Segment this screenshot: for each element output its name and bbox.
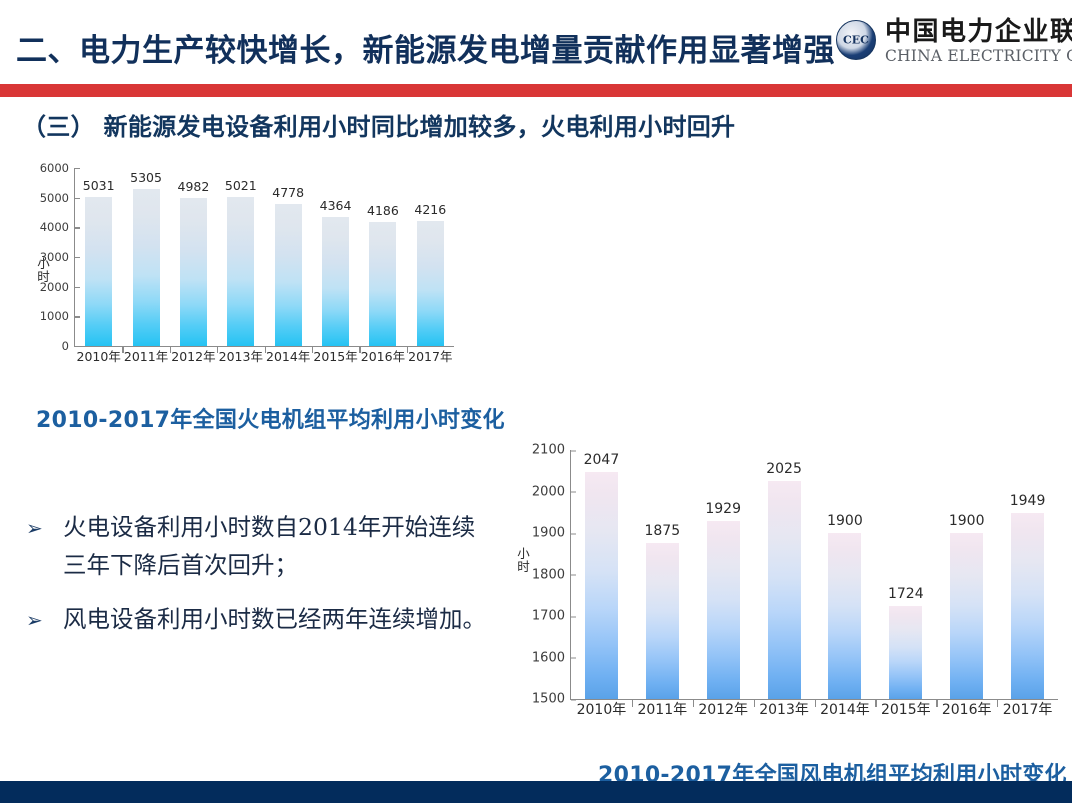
x-axis-tick-mark [122,346,123,353]
page-title: 二、电力生产较快增长，新能源发电增量贡献作用显著增强 [16,20,836,74]
x-axis-tick-label: 2010年 [75,346,122,365]
y-axis-tick-label: 1600 [532,650,571,665]
bar-slot: 5031 [75,168,122,346]
x-axis-tick-label: 2016年 [936,699,997,719]
chart-thermal-plot-area: 6000500040003000200010000 50315305498250… [74,168,454,347]
bar: 2025 [768,481,801,699]
x-axis-tick-mark [936,699,937,707]
x-axis-tick-mark [815,699,816,707]
y-axis-tick-label: 1000 [40,309,75,323]
bullet-list: ➢ 火电设备利用小时数自2014年开始连续三年下降后首次回升； ➢ 风电设备利用… [18,508,498,654]
bar-value-label: 2047 [584,452,620,468]
bar: 4982 [180,198,207,346]
x-axis-tick-mark [265,346,266,353]
x-axis-tick-label: 2016年 [359,346,406,365]
slide: 二、电力生产较快增长，新能源发电增量贡献作用显著增强 中国电力企业联合会 CHI… [0,0,1072,803]
x-axis-tick-label: 2010年 [571,699,632,719]
bar-value-label: 5031 [83,178,115,193]
organization-logo: 中国电力企业联合会 CHINA ELECTRICITY COUNCIL [836,18,1068,76]
list-item: ➢ 火电设备利用小时数自2014年开始连续三年下降后首次回升； [18,508,498,584]
chart-thermal-caption: 2010-2017年全国火电机组平均利用小时变化 [36,402,505,434]
y-axis-tick-label: 3000 [40,250,75,264]
y-axis-tick-label: 1700 [532,609,571,624]
bar-value-label: 1875 [644,523,680,539]
bar-slot: 4778 [265,168,312,346]
bar-value-label: 4186 [367,203,399,218]
bar-slot: 1949 [997,450,1058,699]
bar: 1929 [707,521,740,699]
y-axis-tick-label: 2100 [532,443,571,458]
x-axis-tick-label: 2017年 [407,346,454,365]
y-axis-tick-label: 2000 [40,280,75,294]
x-axis-tick-label: 2017年 [997,699,1058,719]
bar-slot: 1929 [693,450,754,699]
header-red-divider [0,84,1072,97]
cec-emblem-icon [836,20,876,60]
bar: 4778 [275,204,302,346]
bar-value-label: 5021 [225,178,257,193]
bar-value-label: 1929 [705,501,741,517]
y-axis-tick-label: 4000 [40,220,75,234]
x-axis-tick-mark [359,346,360,353]
x-axis-tick-mark [217,346,218,353]
bar: 4216 [417,221,444,346]
bar-value-label: 1949 [1010,493,1046,509]
bar-slot: 1875 [632,450,693,699]
chart-thermal-bars: 50315305498250214778436441864216 [75,168,454,346]
bar-slot: 4216 [407,168,454,346]
bar: 5021 [227,197,254,346]
bar-value-label: 1724 [888,586,924,602]
bar: 4364 [322,217,349,346]
x-axis-tick-label: 2011年 [122,346,169,365]
bar-slot: 4982 [170,168,217,346]
bar: 1900 [950,533,983,699]
bar: 4186 [369,222,396,346]
x-axis-tick-label: 2012年 [170,346,217,365]
x-axis-tick-mark [632,699,633,707]
bar: 2047 [585,472,618,699]
y-axis-tick-label: 6000 [40,161,75,175]
list-item-text: 风电设备利用小时数已经两年连续增加。 [63,605,486,633]
x-axis-tick-label: 2015年 [875,699,936,719]
section-heading: （三） 新能源发电设备利用小时同比增加较多，火电利用小时回升 [22,107,735,142]
bar-slot: 4364 [312,168,359,346]
bar-slot: 1900 [815,450,876,699]
bar-slot: 5021 [217,168,264,346]
x-axis-tick-label: 2013年 [754,699,815,719]
bar-value-label: 1900 [827,513,863,529]
bar-value-label: 2025 [766,461,802,477]
arrow-bullet-icon: ➢ [26,512,43,544]
footer-bar [0,781,1072,803]
bar-slot: 2025 [754,450,815,699]
x-axis-tick-label: 2012年 [693,699,754,719]
bar: 5305 [133,189,160,346]
x-axis-tick-label: 2013年 [217,346,264,365]
y-axis-tick-label: 0 [62,339,75,353]
y-axis-tick-label: 5000 [40,191,75,205]
bar-slot: 5305 [122,168,169,346]
x-axis-tick-mark [997,699,998,707]
bar-value-label: 4982 [178,179,210,194]
bar-value-label: 5305 [130,170,162,185]
x-axis-tick-label: 2011年 [632,699,693,719]
bar-slot: 1724 [875,450,936,699]
chart-thermal-utilization-hours: 小时 6000500040003000200010000 50315305498… [22,160,462,375]
bar: 1724 [889,606,922,699]
x-axis-tick-mark [170,346,171,353]
chart-wind-yaxis-title: 小时 [516,548,531,573]
x-axis-tick-mark [754,699,755,707]
y-axis-tick-label: 1900 [532,526,571,541]
bar: 5031 [85,197,112,346]
bar-value-label: 1900 [949,513,985,529]
bar-slot: 4186 [359,168,406,346]
list-item-text: 火电设备利用小时数自2014年开始连续三年下降后首次回升； [63,513,475,579]
y-axis-tick-label: 1500 [532,692,571,707]
bar-slot: 1900 [936,450,997,699]
x-axis-tick-label: 2014年 [815,699,876,719]
logo-name-en: CHINA ELECTRICITY COUNCIL [885,47,1072,65]
chart-wind-plot-area: 2100200019001800170016001500 20471875192… [570,450,1058,700]
bar-value-label: 4364 [320,198,352,213]
bar: 1900 [828,533,861,699]
x-axis-tick-label: 2015年 [312,346,359,365]
list-item: ➢ 风电设备利用小时数已经两年连续增加。 [18,600,498,638]
x-axis-tick-mark [693,699,694,707]
x-axis-tick-mark [875,699,876,707]
bar-slot: 2047 [571,450,632,699]
arrow-bullet-icon: ➢ [26,604,43,636]
logo-name-cn: 中国电力企业联合会 [885,18,1072,46]
bar-value-label: 4216 [414,202,446,217]
bar: 1875 [646,543,679,699]
x-axis-tick-mark [407,346,408,353]
chart-wind-bars: 20471875192920251900172419001949 [571,450,1058,699]
y-axis-tick-label: 1800 [532,567,571,582]
chart-wind-utilization-hours: 小时 2100200019001800170016001500 20471875… [508,440,1064,730]
y-axis-tick-label: 2000 [532,484,571,499]
bar: 1949 [1011,513,1044,699]
x-axis-tick-mark [312,346,313,353]
bar-value-label: 4778 [272,185,304,200]
x-axis-tick-label: 2014年 [265,346,312,365]
logo-text-group: 中国电力企业联合会 CHINA ELECTRICITY COUNCIL [885,18,1072,65]
